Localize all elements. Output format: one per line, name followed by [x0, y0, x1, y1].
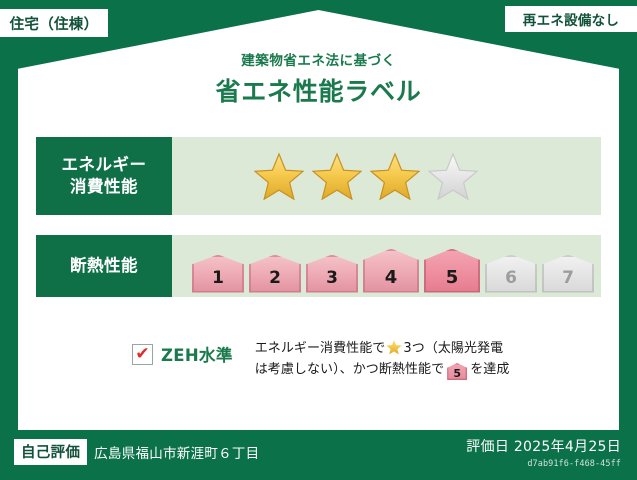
insulation-label: 断熱性能 — [36, 235, 172, 297]
property-address: 広島県福山市新涯町６丁目 — [94, 442, 259, 462]
zeh-label: ZEH水準 — [161, 342, 233, 366]
insulation-grade-4: 4 — [363, 249, 419, 293]
insulation-grade-scale: 1234567 — [172, 231, 594, 302]
label-title: 建築物省エネ法に基づく 省エネ性能ラベル — [0, 54, 637, 105]
star-rating — [172, 152, 478, 200]
badge-building-type: 住宅（住棟） — [0, 9, 108, 37]
footer-right: 評価日 2025年4月25日 d7ab91f6-f468-45ff — [466, 436, 621, 469]
document-id: d7ab91f6-f468-45ff — [466, 459, 621, 469]
inline-house-number: 5 — [453, 367, 461, 380]
grade-number: 5 — [446, 267, 459, 288]
self-evaluation-badge: 自己評価 — [14, 439, 87, 465]
footer-left: 自己評価 広島県福山市新涯町６丁目 — [14, 439, 259, 465]
grade-number: 1 — [212, 268, 224, 288]
star-filled-icon — [254, 152, 304, 200]
grade-number: 2 — [269, 268, 281, 288]
energy-label-line1: エネルギー — [62, 154, 147, 176]
inline-star-icon — [386, 339, 402, 355]
zeh-checkbox[interactable]: ✔ — [132, 344, 153, 365]
badge-renewable-energy: 再エネ設備なし — [505, 6, 637, 32]
note-text-part3: は考慮しない）、かつ断熱性能で — [255, 362, 444, 377]
energy-label-line2: 消費性能 — [70, 176, 138, 198]
insulation-grade-6: 6 — [485, 255, 537, 293]
evaluation-date: 評価日 2025年4月25日 — [466, 436, 621, 456]
note-text-part4: を達成 — [470, 362, 509, 377]
grade-number: 7 — [562, 268, 574, 288]
zeh-standard: ✔ ZEH水準 — [36, 336, 233, 366]
insulation-value: 1234567 — [172, 235, 601, 297]
title-subtitle: 建築物省エネ法に基づく — [0, 54, 637, 69]
star-empty-icon — [428, 152, 478, 200]
insulation-grade-7: 7 — [542, 255, 594, 293]
label-footer: 自己評価 広島県福山市新涯町６丁目 評価日 2025年4月25日 d7ab91f… — [0, 430, 637, 480]
energy-consumption-row: エネルギー 消費性能 — [36, 137, 601, 215]
grade-number: 6 — [505, 268, 517, 288]
note-text-part1: エネルギー消費性能で — [255, 341, 386, 356]
energy-consumption-value — [172, 137, 601, 215]
note-text-part2: 3つ（太陽光発電 — [403, 341, 503, 356]
grade-number: 3 — [326, 268, 338, 288]
grade-number: 4 — [385, 267, 398, 288]
zeh-description: エネルギー消費性能で3つ（太陽光発電 は考慮しない）、かつ断熱性能で5を達成 — [255, 336, 510, 380]
energy-performance-label: 住宅（住棟） 再エネ設備なし 建築物省エネ法に基づく 省エネ性能ラベル エネルギ… — [0, 0, 637, 480]
star-filled-icon — [370, 152, 420, 200]
inline-house-icon: 5 — [447, 363, 467, 380]
star-filled-icon — [312, 152, 362, 200]
title-main: 省エネ性能ラベル — [0, 78, 637, 106]
energy-consumption-label: エネルギー 消費性能 — [36, 137, 172, 215]
insulation-grade-2: 2 — [249, 255, 301, 293]
insulation-row: 断熱性能 1234567 — [36, 235, 601, 297]
insulation-grade-3: 3 — [306, 255, 358, 293]
insulation-grade-1: 1 — [192, 255, 244, 293]
insulation-grade-5: 5 — [424, 249, 480, 293]
zeh-note: ✔ ZEH水準 エネルギー消費性能で3つ（太陽光発電 は考慮しない）、かつ断熱性… — [36, 336, 606, 380]
